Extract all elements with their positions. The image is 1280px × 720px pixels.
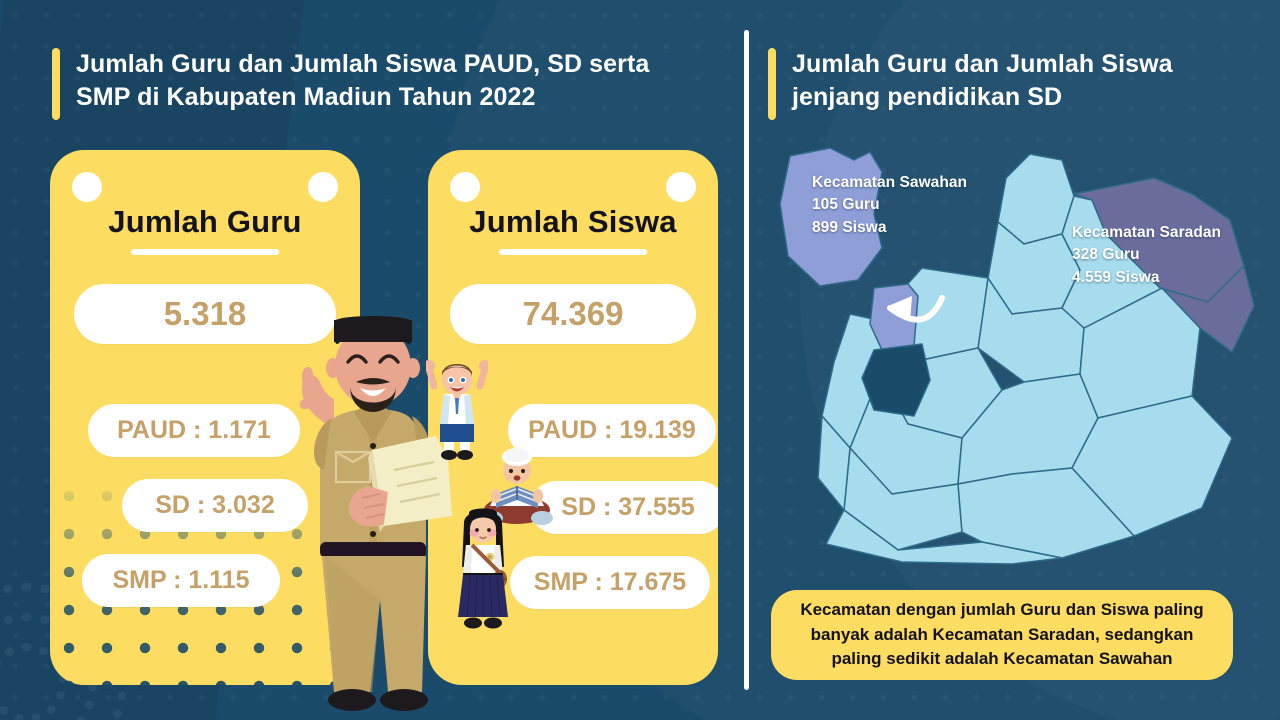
- map-label-sawahan: Kecamatan Sawahan 105 Guru 899 Siswa: [812, 172, 967, 239]
- guru-paud-pill: PAUD : 1.171: [88, 404, 300, 457]
- boy-student-illustration: [426, 356, 488, 460]
- siswa-smp-value: SMP : 17.675: [534, 568, 686, 597]
- right-panel-title: Jumlah Guru dan Jumlah Siswa jenjang pen…: [768, 48, 1218, 120]
- siswa-sd-pill: SD : 37.555: [530, 481, 718, 534]
- card-title-guru: Jumlah Guru: [50, 204, 360, 240]
- siswa-paud-value: PAUD : 19.139: [528, 416, 696, 445]
- siswa-total-value: 74.369: [523, 295, 624, 333]
- guru-smp-pill: SMP : 1.115: [82, 554, 280, 607]
- card-title-siswa: Jumlah Siswa: [428, 204, 718, 240]
- title-accent-bar: [52, 48, 60, 120]
- siswa-smp-pill: SMP : 17.675: [510, 556, 710, 609]
- map-label-saradan: Kecamatan Saradan 328 Guru 4.559 Siswa: [1072, 222, 1221, 289]
- siswa-sd-value: SD : 37.555: [561, 493, 694, 522]
- card-punch-hole-left: [72, 172, 102, 202]
- map-caption-box: Kecamatan dengan jumlah Guru dan Siswa p…: [771, 590, 1233, 680]
- card-punch-hole-left: [450, 172, 480, 202]
- right-title-text: Jumlah Guru dan Jumlah Siswa jenjang pen…: [792, 48, 1173, 120]
- title-accent-bar: [768, 48, 776, 120]
- card-title-underline: [499, 249, 647, 255]
- guru-paud-value: PAUD : 1.171: [117, 416, 271, 445]
- siswa-total-pill: 74.369: [450, 284, 696, 344]
- girl-student-illustration: [452, 505, 514, 631]
- guru-sd-value: SD : 3.032: [155, 491, 275, 520]
- guru-smp-value: SMP : 1.115: [112, 566, 249, 595]
- left-title-text: Jumlah Guru dan Jumlah Siswa PAUD, SD se…: [76, 48, 649, 120]
- card-punch-hole-right: [308, 172, 338, 202]
- panel-divider: [744, 30, 749, 690]
- card-title-underline: [131, 249, 279, 255]
- left-panel-title: Jumlah Guru dan Jumlah Siswa PAUD, SD se…: [52, 48, 712, 120]
- guru-total-value: 5.318: [164, 295, 247, 333]
- card-punch-hole-right: [666, 172, 696, 202]
